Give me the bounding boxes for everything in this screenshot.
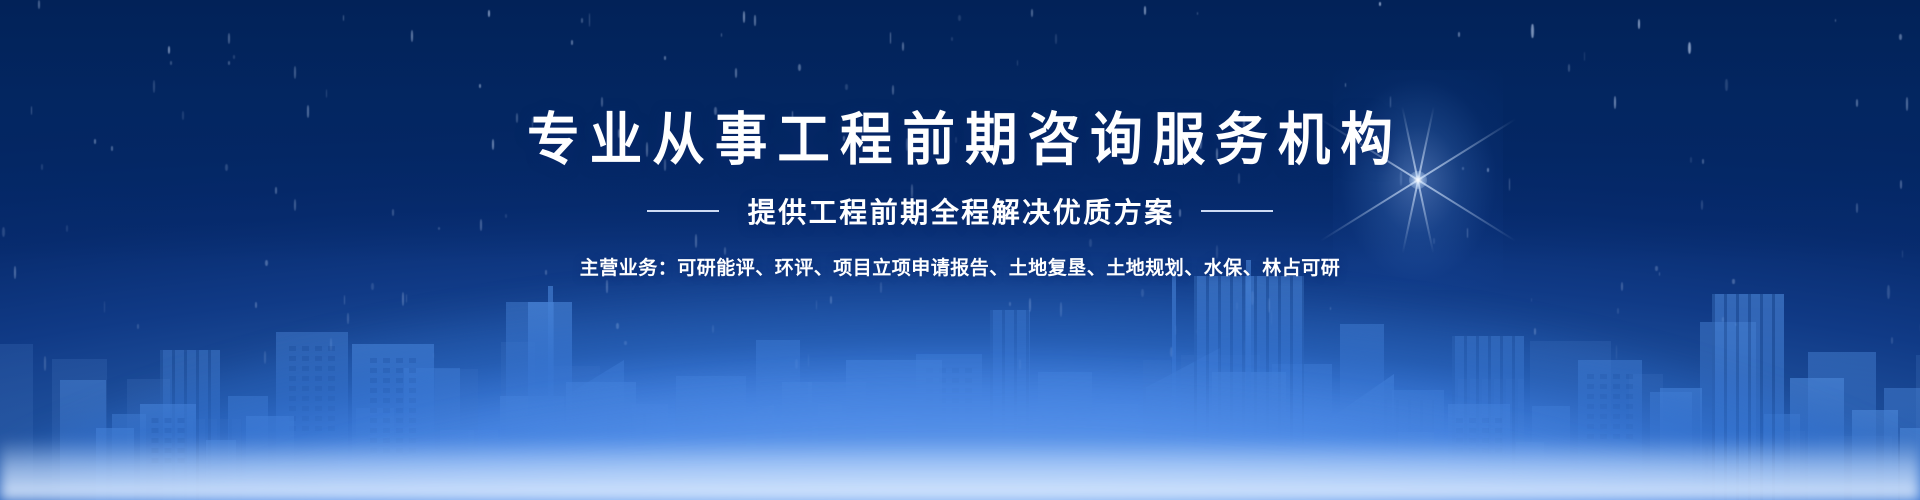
banner-subtitle-row: 提供工程前期全程解决优质方案	[0, 191, 1920, 231]
hero-banner: 专业从事工程前期咨询服务机构 提供工程前期全程解决优质方案 主营业务：可研能评、…	[0, 0, 1920, 500]
ground-glow	[0, 438, 1920, 500]
banner-title: 专业从事工程前期咨询服务机构	[77, 0, 1843, 169]
rule-left-icon	[647, 210, 719, 212]
banner-content: 专业从事工程前期咨询服务机构 提供工程前期全程解决优质方案 主营业务：可研能评、…	[0, 0, 1920, 280]
banner-business-line: 主营业务：可研能评、环评、项目立项申请报告、土地复垦、土地规划、水保、林占可研	[0, 253, 1920, 280]
rule-right-icon	[1201, 210, 1273, 212]
banner-subtitle: 提供工程前期全程解决优质方案	[745, 191, 1175, 231]
